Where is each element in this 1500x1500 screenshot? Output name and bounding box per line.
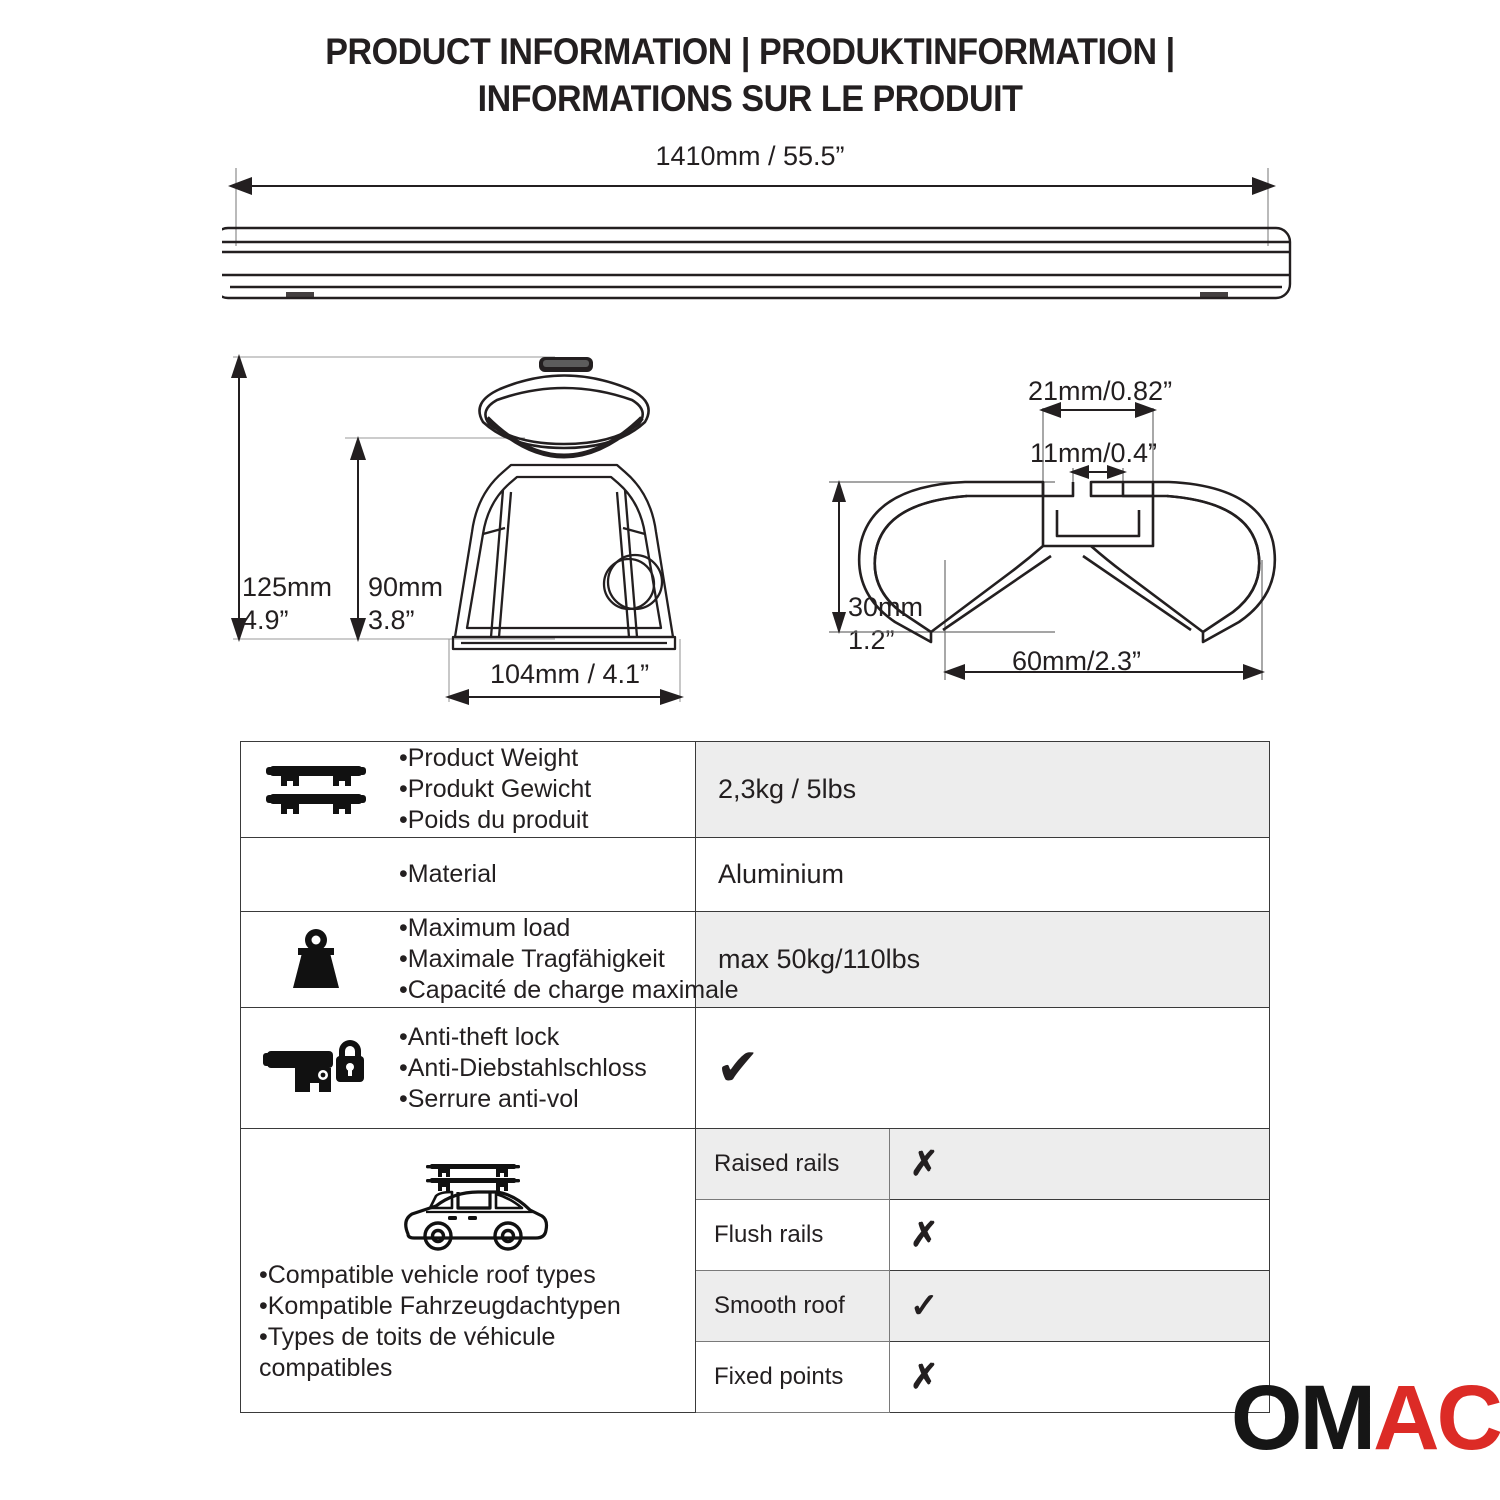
weight-icon bbox=[241, 928, 391, 992]
spec-value-cell: 2,3kg / 5lbs bbox=[696, 742, 1270, 838]
mount-front-view-diagram bbox=[225, 352, 705, 712]
compat-mark: ✗ bbox=[890, 1360, 1269, 1394]
check-mark: ✔ bbox=[696, 1042, 1269, 1094]
compat-mark: ✗ bbox=[890, 1218, 1269, 1252]
specification-table: •Product Weight •Produkt Gewicht •Poids … bbox=[240, 741, 1270, 1413]
compat-mark: ✓ bbox=[890, 1289, 1269, 1323]
product-information-sheet: PRODUCT INFORMATION | PRODUKTINFORMATION… bbox=[0, 0, 1500, 1500]
page-title: PRODUCT INFORMATION | PRODUKTINFORMATION… bbox=[60, 28, 1440, 122]
omac-logo: OMAC bbox=[1231, 1372, 1500, 1464]
compat-type-cell: Smooth roof bbox=[696, 1271, 890, 1342]
spec-value-text: 2,3kg / 5lbs bbox=[696, 774, 1269, 805]
logo-dark-text: OM bbox=[1231, 1367, 1373, 1469]
compat-type-name: Flush rails bbox=[696, 1221, 889, 1249]
spec-value-cell: max 50kg/110lbs bbox=[696, 912, 1270, 1008]
table-row: •Product Weight •Produkt Gewicht •Poids … bbox=[241, 742, 1270, 838]
spec-label-cell: •Material bbox=[241, 838, 696, 912]
compat-mark-cell: ✗ bbox=[890, 1129, 1270, 1200]
crossbar-top-view-diagram bbox=[222, 168, 1302, 328]
compat-mark-cell: ✓ bbox=[890, 1271, 1270, 1342]
spec-label-cell: •Maximum load •Maximale Tragfähigkeit •C… bbox=[241, 912, 696, 1008]
car-with-rack-icon bbox=[392, 1158, 552, 1254]
logo-red-text: AC bbox=[1373, 1367, 1500, 1469]
spec-value-cell: ✔ bbox=[696, 1008, 1270, 1129]
spec-value-text: Aluminium bbox=[696, 859, 1269, 890]
spec-value-text: max 50kg/110lbs bbox=[696, 944, 1269, 975]
lock-icon bbox=[241, 1037, 391, 1099]
compat-type-name: Smooth roof bbox=[696, 1292, 889, 1320]
compat-mark-cell: ✗ bbox=[890, 1342, 1270, 1413]
crossbars-icon bbox=[241, 762, 391, 818]
compat-label-cell: •Compatible vehicle roof types •Kompatib… bbox=[241, 1129, 696, 1413]
spec-label-text: •Anti-theft lock •Anti-Diebstahlschloss … bbox=[399, 1022, 647, 1115]
table-row: •Anti-theft lock •Anti-Diebstahlschloss … bbox=[241, 1008, 1270, 1129]
compat-label-text: •Compatible vehicle roof types •Kompatib… bbox=[259, 1260, 685, 1384]
compat-type-cell: Raised rails bbox=[696, 1129, 890, 1200]
spec-label-text: •Maximum load •Maximale Tragfähigkeit •C… bbox=[399, 913, 738, 1006]
compat-type-name: Fixed points bbox=[696, 1363, 889, 1391]
spec-label-cell: •Product Weight •Produkt Gewicht •Poids … bbox=[241, 742, 696, 838]
table-row: •Maximum load •Maximale Tragfähigkeit •C… bbox=[241, 912, 1270, 1008]
spec-value-cell: Aluminium bbox=[696, 838, 1270, 912]
compat-mark: ✗ bbox=[890, 1147, 1269, 1181]
crossbar-profile-section-diagram bbox=[815, 360, 1285, 700]
compat-mark-cell: ✗ bbox=[890, 1200, 1270, 1271]
title-line-2: INFORMATIONS SUR LE PRODUIT bbox=[60, 75, 1440, 122]
table-row: •Compatible vehicle roof types •Kompatib… bbox=[241, 1129, 1270, 1200]
table-row: •Material Aluminium bbox=[241, 838, 1270, 912]
compat-type-cell: Flush rails bbox=[696, 1200, 890, 1271]
spec-label-cell: •Anti-theft lock •Anti-Diebstahlschloss … bbox=[241, 1008, 696, 1129]
spec-label-text: •Product Weight •Produkt Gewicht •Poids … bbox=[399, 743, 591, 836]
compat-type-cell: Fixed points bbox=[696, 1342, 890, 1413]
compat-type-name: Raised rails bbox=[696, 1150, 889, 1178]
spec-label-text: •Material bbox=[399, 859, 497, 890]
title-line-1: PRODUCT INFORMATION | PRODUKTINFORMATION… bbox=[325, 31, 1174, 72]
